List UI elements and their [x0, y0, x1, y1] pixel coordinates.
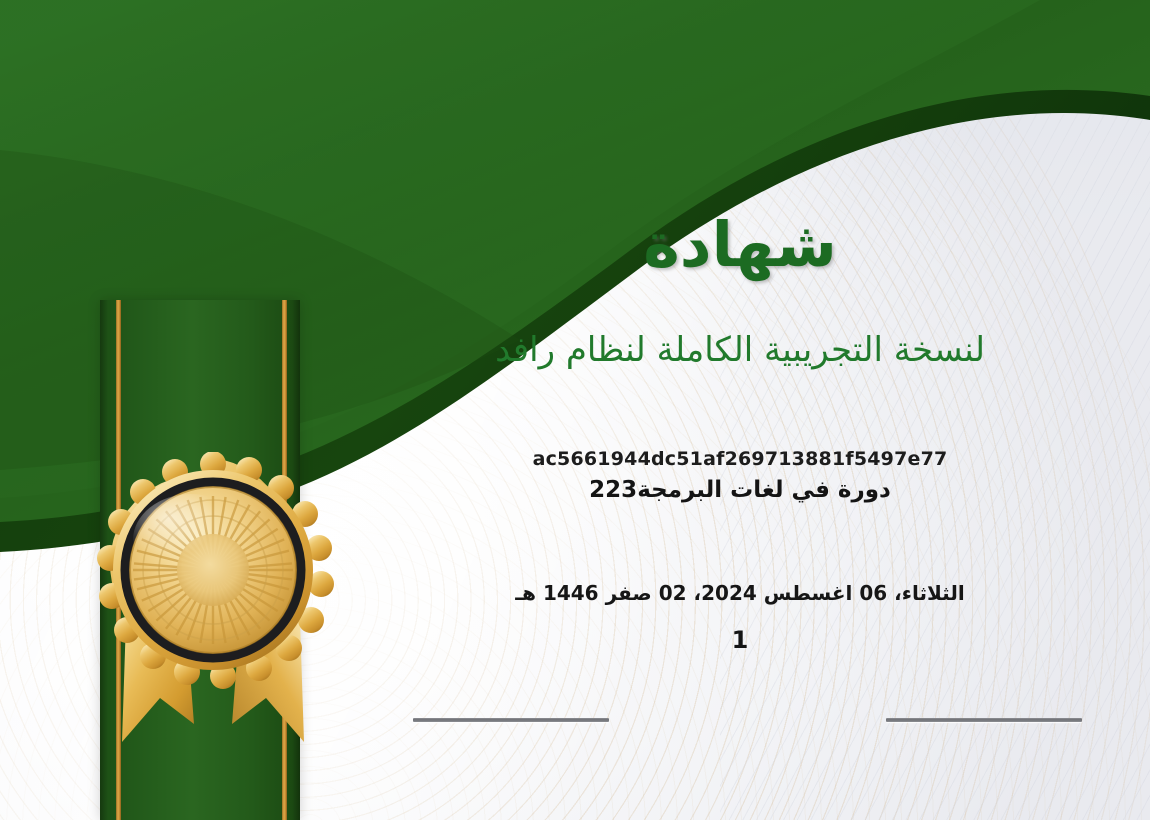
verification-code: ac5661944dc51af269713881f5497e77 [330, 448, 1150, 470]
certificate-canvas: شهادة لنسخة التجريبية الكاملة لنظام رافد… [0, 0, 1150, 820]
certificate-subtitle: لنسخة التجريبية الكاملة لنظام رافد [330, 328, 1150, 372]
signature-line-right [886, 718, 1082, 722]
signature-line-left [413, 718, 609, 722]
gold-award-medal [82, 452, 344, 752]
serial-number: 1 [330, 626, 1150, 654]
issue-date: الثلاثاء، 06 اغسطس 2024، 02 صفر 1446 هـ [330, 581, 1150, 605]
course-name: دورة في لغات البرمجة223 [330, 477, 1150, 503]
certificate-content: شهادة لنسخة التجريبية الكاملة لنظام رافد… [330, 0, 1150, 820]
page-title: شهادة [330, 212, 1150, 277]
